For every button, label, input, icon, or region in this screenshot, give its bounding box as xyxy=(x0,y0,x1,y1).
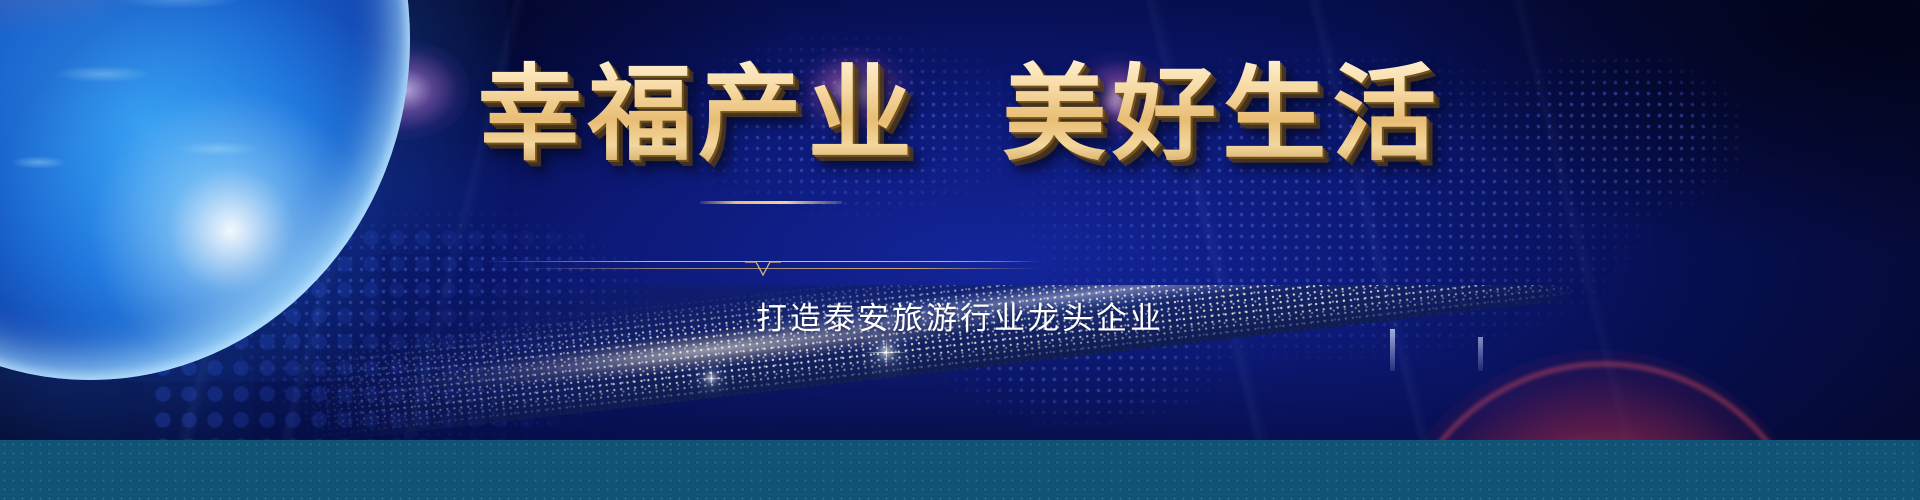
divider xyxy=(0,250,1920,280)
banner-content: 幸福产业 美好生活 打造泰安旅游行业龙头企业 xyxy=(0,0,1920,500)
bottom-accent-bar xyxy=(0,440,1920,500)
page-title: 幸福产业 美好生活 xyxy=(0,58,1920,170)
page-subtitle: 打造泰安旅游行业龙头企业 xyxy=(0,293,1920,338)
title-underline-decoration xyxy=(700,201,842,204)
divider-line-right xyxy=(800,261,1040,262)
chevron-down-icon xyxy=(745,261,781,277)
hero-banner: 幸福产业 美好生活 打造泰安旅游行业龙头企业 xyxy=(0,0,1920,500)
